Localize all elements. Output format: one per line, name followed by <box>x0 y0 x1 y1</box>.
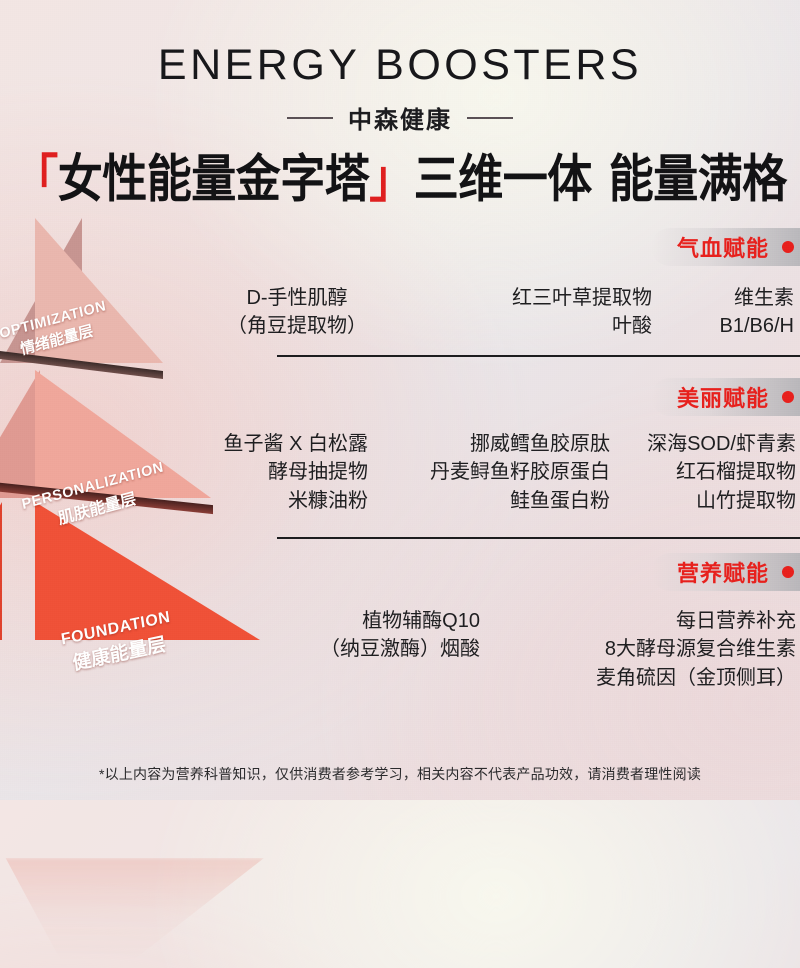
yingyang-column-1: 植物辅酶Q10 （纳豆激酶）烟酸 <box>248 607 480 692</box>
badge-dot-icon <box>782 566 794 578</box>
qixue-c1-line2: （角豆提取物） <box>202 312 392 340</box>
qixue-column-2: 红三叶草提取物 叶酸 <box>422 284 652 341</box>
qixue-columns: D-手性肌醇 （角豆提取物） 红三叶草提取物 叶酸 维生素 B1/B6/H <box>150 284 800 341</box>
yingyang-c1-line1: 植物辅酶Q10 <box>248 607 480 635</box>
main-headline: 「女性能量金字塔」三维一体能量满格 <box>0 152 800 206</box>
yingyang-c2-line3: 麦角硫因（金顶侧耳） <box>504 664 796 692</box>
yingyang-c2-line2: 8大酵母源复合维生素 <box>504 635 796 663</box>
qixue-c3-line2: B1/B6/H <box>682 312 794 340</box>
qixue-c2-line2: 叶酸 <box>422 312 652 340</box>
qixue-c3-line1: 维生素 <box>682 284 794 312</box>
brand-name-chinese: 中森健康 <box>348 100 452 135</box>
pyramid-reflection <box>0 858 264 968</box>
section-qixue-fuleng: 气血赋能 D-手性肌醇 （角豆提取物） 红三叶草提取物 叶酸 维生素 B1/B6… <box>150 228 800 341</box>
meili-column-3: 深海SOD/虾青素 红石榴提取物 山竹提取物 <box>624 430 796 515</box>
headline-end-text: 能量满格 <box>609 150 787 208</box>
meili-column-2: 挪威鳕鱼胶原肽 丹麦鲟鱼籽胶原蛋白 鲑鱼蛋白粉 <box>382 430 610 515</box>
yingyang-column-2: 每日营养补充 8大酵母源复合维生素 麦角硫因（金顶侧耳） <box>504 607 796 692</box>
page-header: ENERGY BOOSTERS 中森健康 「女性能量金字塔」三维一体能量满格 <box>0 0 800 200</box>
headline-middle-text: 三维一体 <box>414 150 592 208</box>
badge-row-meili: 美丽赋能 <box>150 378 800 416</box>
yingyang-c1-line2: （纳豆激酶）烟酸 <box>248 635 480 663</box>
meili-c2-line2: 丹麦鲟鱼籽胶原蛋白 <box>382 458 610 486</box>
section-yingyang-fuleng: 营养赋能 植物辅酶Q10 （纳豆激酶）烟酸 每日营养补充 8大酵母源复合维生素 … <box>150 553 800 692</box>
meili-c1-line1: 鱼子酱 X 白松露 <box>156 430 368 458</box>
brand-subtitle-row: 中森健康 <box>0 100 800 135</box>
yingyang-c1-line3 <box>248 664 480 692</box>
badge-row-qixue: 气血赋能 <box>150 228 800 266</box>
qixue-column-1: D-手性肌醇 （角豆提取物） <box>202 284 392 341</box>
yingyang-c2-line1: 每日营养补充 <box>504 607 796 635</box>
meili-c1-line3: 米糠油粉 <box>156 487 368 515</box>
meili-c3-line3: 山竹提取物 <box>624 487 796 515</box>
section-divider-2 <box>277 537 800 539</box>
qixue-c1-line1: D-手性肌醇 <box>202 284 392 312</box>
meili-c3-line2: 红石榴提取物 <box>624 458 796 486</box>
page-title-english: ENERGY BOOSTERS <box>0 44 800 87</box>
badge-dot-icon <box>782 391 794 403</box>
headline-bracket-open: 「 <box>13 150 58 208</box>
badge-row-yingyang: 营养赋能 <box>150 553 800 591</box>
footer-disclaimer: *以上内容为营养科普知识，仅供消费者参考学习，相关内容不代表产品功效，请消费者理… <box>0 764 800 784</box>
meili-c3-line1: 深海SOD/虾青素 <box>624 430 796 458</box>
qixue-column-3: 维生素 B1/B6/H <box>682 284 794 341</box>
headline-bracket-close: 」 <box>369 150 414 208</box>
section-badge-qixue-label: 气血赋能 <box>677 231 769 263</box>
meili-c1-line2: 酵母抽提物 <box>156 458 368 486</box>
meili-column-1: 鱼子酱 X 白松露 酵母抽提物 米糠油粉 <box>156 430 368 515</box>
section-meili-fuleng: 美丽赋能 鱼子酱 X 白松露 酵母抽提物 米糠油粉 挪威鳕鱼胶原肽 丹麦鲟鱼籽胶… <box>150 378 800 515</box>
yingyang-columns: 植物辅酶Q10 （纳豆激酶）烟酸 每日营养补充 8大酵母源复合维生素 麦角硫因（… <box>150 607 800 692</box>
divider-dash-left <box>287 117 333 119</box>
section-badge-meili: 美丽赋能 <box>651 378 800 416</box>
section-badge-yingyang: 营养赋能 <box>651 553 800 591</box>
section-badge-yingyang-label: 营养赋能 <box>677 556 769 588</box>
meili-c2-line3: 鲑鱼蛋白粉 <box>382 487 610 515</box>
section-badge-meili-label: 美丽赋能 <box>677 381 769 413</box>
headline-quoted-text: 女性能量金字塔 <box>58 150 370 208</box>
meili-columns: 鱼子酱 X 白松露 酵母抽提物 米糠油粉 挪威鳕鱼胶原肽 丹麦鲟鱼籽胶原蛋白 鲑… <box>150 430 800 515</box>
section-divider-1 <box>277 355 800 357</box>
divider-dash-right <box>467 117 513 119</box>
meili-c2-line1: 挪威鳕鱼胶原肽 <box>382 430 610 458</box>
badge-dot-icon <box>782 241 794 253</box>
qixue-c2-line1: 红三叶草提取物 <box>422 284 652 312</box>
section-badge-qixue: 气血赋能 <box>651 228 800 266</box>
